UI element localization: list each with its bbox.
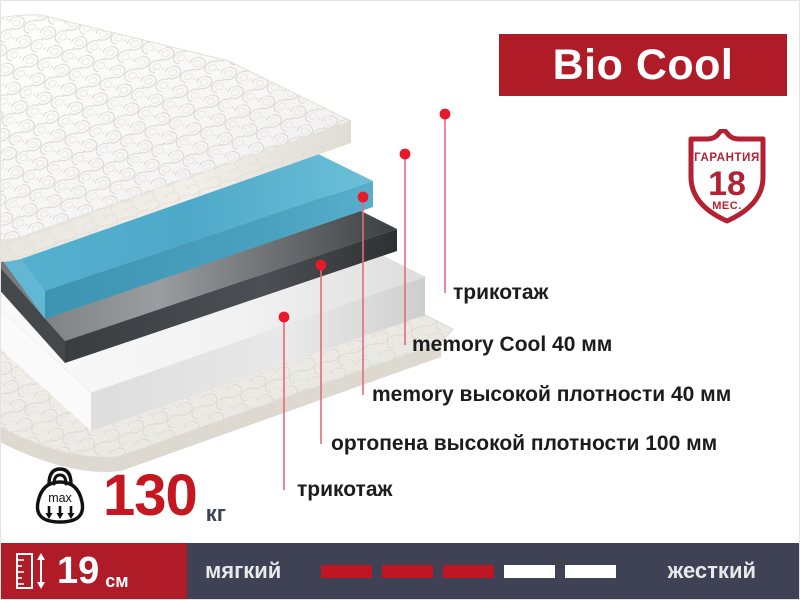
weight-capacity: max 130 кг	[29, 459, 226, 533]
layer-label-bottom-knit: трикотаж	[297, 479, 392, 500]
firmness-segment-4	[504, 565, 555, 578]
height-value: 19	[57, 552, 99, 590]
firmness-block: мягкий жесткий	[187, 543, 800, 599]
layer-label-top-knit: трикотаж	[453, 282, 548, 303]
weight-capacity-value: 130	[103, 467, 197, 525]
height-unit: см	[105, 572, 128, 590]
firmness-segment-5	[565, 565, 616, 578]
warranty-value: 18	[708, 165, 746, 203]
layer-label-memory-hd: memory высокой плотности 40 мм	[372, 384, 731, 405]
warranty-top-label: ГАРАНТИЯ	[694, 152, 760, 164]
warranty-badge: ГАРАНТИЯ 18 МЕС.	[681, 129, 773, 225]
firmness-segment-1	[321, 565, 372, 578]
firmness-scale	[321, 565, 616, 578]
firmness-segment-3	[443, 565, 494, 578]
height-block: 19 см	[1, 543, 187, 599]
ruler-icon	[15, 551, 49, 591]
warranty-unit: МЕС.	[712, 200, 742, 212]
kettlebell-max-icon: max	[29, 462, 91, 530]
page-title: Bio Cool	[553, 44, 734, 87]
kettlebell-max-text: max	[48, 491, 72, 505]
layer-label-memory-cool: memory Cool 40 мм	[412, 334, 612, 355]
layer-label-ortofoam: ортопена высокой плотности 100 мм	[331, 433, 717, 454]
firmness-segment-2	[382, 565, 433, 578]
firmness-soft-label: мягкий	[205, 558, 281, 584]
product-title-banner: Bio Cool	[499, 34, 787, 96]
bottom-bar: 19 см мягкий жесткий	[1, 543, 800, 599]
weight-capacity-unit: кг	[206, 503, 226, 525]
firmness-hard-label: жесткий	[668, 558, 756, 584]
product-infographic: Bio Cool ГАРАНТИЯ 18 МЕС. трикотаж memor…	[0, 0, 800, 600]
mattress-illustration	[1, 1, 501, 481]
